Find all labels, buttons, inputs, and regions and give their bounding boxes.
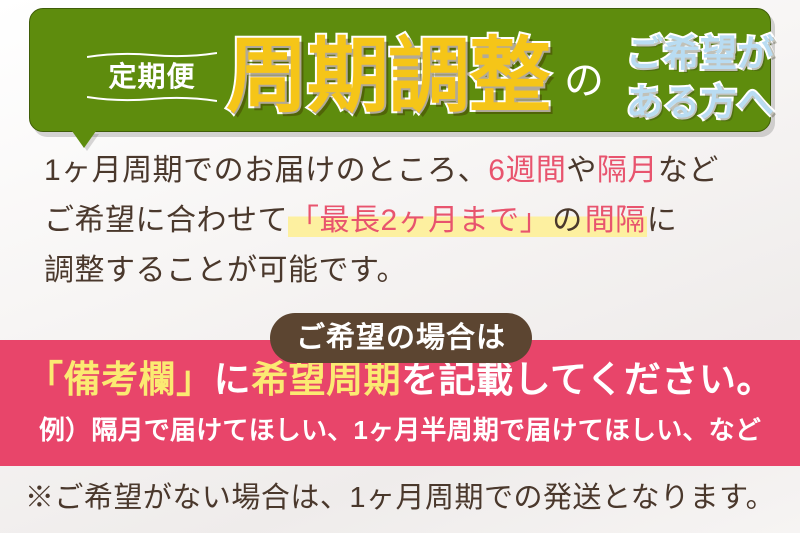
wave-divider-top-icon [87, 52, 217, 59]
header-banner: 定期便 周期調整 の ご希望が ある方へ [29, 8, 771, 132]
instruction-seg2: に [214, 359, 252, 400]
subscription-badge-label: 定期便 [108, 59, 195, 95]
instruction-main-text: 「備考欄」に希望周期を記載してください。 [0, 356, 800, 404]
title-particle: の [564, 61, 604, 101]
desc1-highlight-bimonthly: 隔月 [597, 154, 658, 187]
desc1-seg1: 1ヶ月周期でのお届けのところ、 [44, 154, 488, 187]
wave-divider-bottom-icon [87, 95, 217, 102]
description-line-3: 調整することが可能です。 [44, 246, 800, 296]
target-audience-line-1: ご希望が [626, 31, 794, 77]
instruction-example-text: 例）隔月で届けてほしい、1ヶ月半周期で届けてほしい、など [0, 410, 800, 450]
page-title: 周期調整 [226, 25, 550, 129]
instruction-desired-cycle: 希望周期 [251, 359, 401, 400]
desc1-seg5: など [658, 154, 719, 187]
desc2-seg1: ご希望に合わせて [44, 204, 288, 237]
subscription-badge: 定期便 [82, 41, 222, 113]
desc1-highlight-6weeks: 6週間 [488, 154, 566, 187]
desc2-highlight-max2months: 「最長2ヶ月まで」 [288, 204, 551, 237]
instruction-field-name: 「備考欄」 [26, 359, 214, 400]
desc2-highlight-interval: 間隔 [584, 204, 647, 237]
desc1-seg3: や [566, 154, 597, 187]
footer-note: ※ご希望がない場合は、1ヶ月周期での発送となります。 [0, 478, 800, 518]
description-line-1: 1ヶ月周期でのお届けのところ、6週間や隔月など [44, 146, 800, 196]
request-case-pill: ご希望の場合は [270, 313, 532, 363]
description-paragraph: 1ヶ月周期でのお届けのところ、6週間や隔月など ご希望に合わせて「最長2ヶ月まで… [0, 146, 800, 296]
instruction-seg4: を記載してください。 [401, 359, 774, 400]
desc2-seg3: の [551, 204, 584, 237]
target-audience-line-2: ある方へ [626, 80, 794, 126]
description-line-2: ご希望に合わせて「最長2ヶ月まで」の間隔に [44, 196, 800, 246]
target-audience-block: ご希望が ある方へ [626, 31, 794, 126]
request-case-pill-label: ご希望の場合は [296, 324, 506, 353]
desc2-seg5: に [647, 204, 678, 237]
